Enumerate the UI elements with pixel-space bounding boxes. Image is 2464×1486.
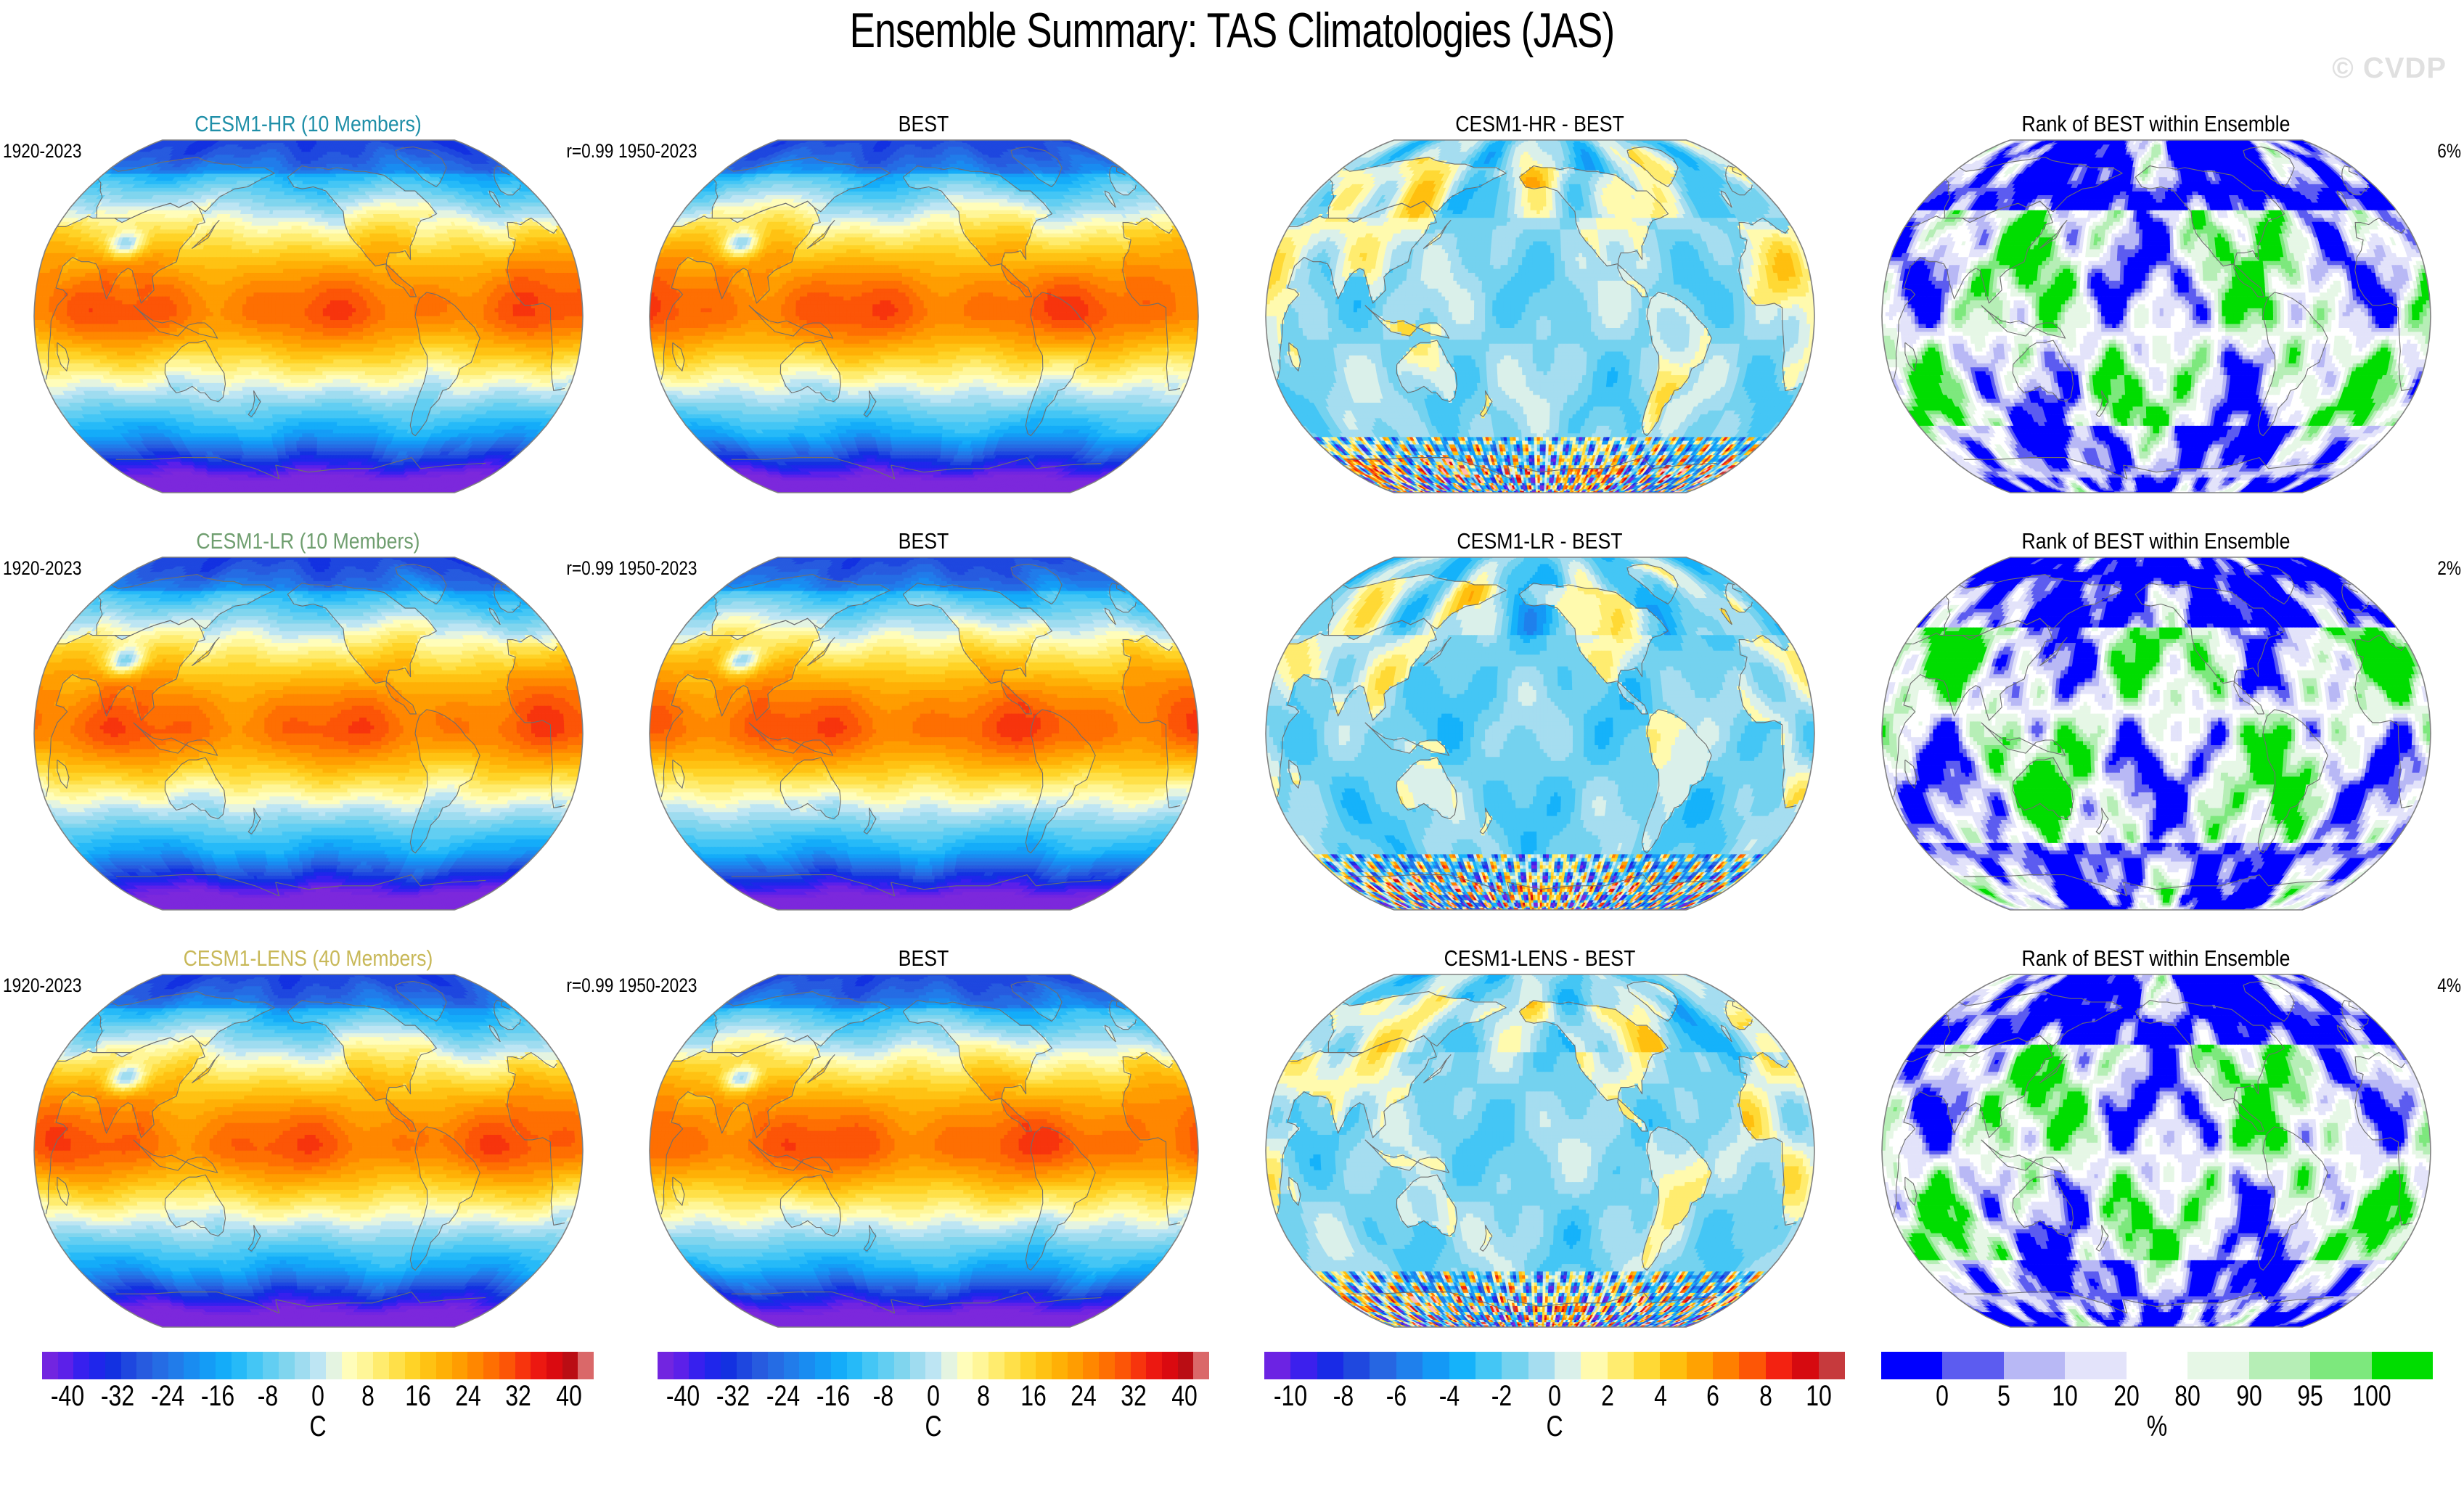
tas-colorbar-model-cell-24 [420, 1352, 436, 1379]
diff-colorbar-cell-0 [1264, 1352, 1290, 1379]
rank-map-panel-row2: Rank of BEST within Ensemble2% [1848, 530, 2464, 947]
tas-colorbar-obs-tick-2: -24 [766, 1381, 800, 1411]
tas-colorbar-model-cell-12 [232, 1352, 247, 1379]
tas-colorbar-obs-cell-3 [705, 1352, 721, 1379]
tas-colorbar-obs-cell-18 [941, 1352, 957, 1379]
tas-colorbar-obs-cell-29 [1115, 1352, 1131, 1379]
tas-colorbar-model-cell-18 [326, 1352, 342, 1379]
tas-colorbar-model-strip [42, 1352, 594, 1379]
tas-colorbar-obs-cell-12 [847, 1352, 863, 1379]
tas-colorbar-model-cell-26 [452, 1352, 468, 1379]
diff-colorbar-cell-7 [1449, 1352, 1475, 1379]
model-climatology-image [33, 139, 584, 494]
tas-colorbar-model-cell-0 [42, 1352, 58, 1379]
rank-map-image [1880, 556, 2432, 911]
observed-climatology-title: BEST [658, 530, 1188, 552]
tas-colorbar-model-cell-25 [436, 1352, 452, 1379]
rank-colorbar-cell-0 [1881, 1352, 1942, 1379]
tas-colorbar-model-cell-9 [184, 1352, 200, 1379]
rank-percentage: 4% [2437, 976, 2461, 996]
diff-colorbar-cell-2 [1317, 1352, 1343, 1379]
tas-colorbar-model-cell-27 [467, 1352, 483, 1379]
difference-map-image [1264, 556, 1816, 911]
model-climatology-panel-row1: CESM1-HR (10 Members)1920-2023r=0.99 [0, 112, 616, 530]
observed-climatology-panel-row2: BEST1950-2023 [615, 530, 1232, 947]
diff-colorbar-tick-7: 4 [1654, 1381, 1667, 1411]
diff-colorbar-tick-6: 2 [1601, 1381, 1614, 1411]
rank-colorbar-cell-3 [2065, 1352, 2126, 1379]
rank-map-panel-row1: Rank of BEST within Ensemble6% [1848, 112, 2464, 530]
diff-colorbar-cell-12 [1581, 1352, 1607, 1379]
tas-colorbar-obs-tick-0: -40 [666, 1381, 699, 1411]
tas-colorbar-obs-cell-21 [989, 1352, 1004, 1379]
diff-colorbar-unit: C [1546, 1412, 1563, 1441]
tas-colorbar-model-cell-21 [373, 1352, 389, 1379]
diff-colorbar-cell-15 [1660, 1352, 1686, 1379]
tas-colorbar-model-tick-4: -8 [258, 1381, 278, 1411]
difference-map-title: CESM1-LENS - BEST [1274, 947, 1804, 969]
observed-climatology-panel-row3: BEST1950-2023 [615, 947, 1232, 1364]
tas-colorbar-model-cell-15 [279, 1352, 295, 1379]
rank-map-title: Rank of BEST within Ensemble [1891, 530, 2420, 552]
difference-map-panel-row2: CESM1-LR - BEST [1232, 530, 1848, 947]
tas-colorbar-model-tick-5: 0 [311, 1381, 324, 1411]
tas-colorbar-model-cell-20 [357, 1352, 373, 1379]
tas-colorbar-obs-tick-6: 8 [977, 1381, 990, 1411]
diff-colorbar-tick-2: -6 [1386, 1381, 1407, 1411]
tas-colorbar-obs-cell-0 [658, 1352, 674, 1379]
rank-percentage: 6% [2437, 141, 2461, 161]
tas-colorbar-obs-cell-22 [1004, 1352, 1020, 1379]
diff-colorbar-strip [1264, 1352, 1845, 1379]
diff-colorbar-cell-20 [1792, 1352, 1818, 1379]
tas-colorbar-obs-cell-17 [925, 1352, 941, 1379]
rank-colorbar-labels: 051020809095100 [1881, 1381, 2433, 1413]
diff-colorbar-labels: -10-8-6-4-20246810 [1264, 1381, 1845, 1413]
tas-colorbar-model-cell-2 [73, 1352, 89, 1379]
difference-map-image [1264, 139, 1816, 494]
tas-colorbar-model-cell-30 [515, 1352, 531, 1379]
tas-colorbar-model-cell-16 [295, 1352, 311, 1379]
rank-colorbar: 051020809095100% [1881, 1352, 2433, 1446]
diff-colorbar-tick-9: 8 [1759, 1381, 1772, 1411]
tas-colorbar-obs-cell-10 [815, 1352, 831, 1379]
diff-colorbar-cell-9 [1502, 1352, 1528, 1379]
tas-colorbar-model-cell-22 [389, 1352, 405, 1379]
rank-colorbar-tick-6: 95 [2297, 1381, 2323, 1411]
tas-colorbar-obs-unit: C [925, 1412, 941, 1441]
tas-colorbar-model-cell-10 [200, 1352, 216, 1379]
tas-colorbar-obs-cell-30 [1131, 1352, 1147, 1379]
diff-colorbar-tick-5: 0 [1548, 1381, 1561, 1411]
rank-colorbar-tick-7: 100 [2352, 1381, 2391, 1411]
tas-colorbar-obs-cell-23 [1020, 1352, 1036, 1379]
diff-colorbar: -10-8-6-4-20246810C [1264, 1352, 1845, 1446]
diff-colorbar-tick-0: -10 [1274, 1381, 1307, 1411]
tas-colorbar-obs-cell-8 [784, 1352, 800, 1379]
tas-colorbar-model-cell-6 [136, 1352, 152, 1379]
rank-colorbar-tick-2: 10 [2052, 1381, 2078, 1411]
rank-colorbar-cell-5 [2187, 1352, 2248, 1379]
difference-map-panel-row3: CESM1-LENS - BEST [1232, 947, 1848, 1364]
rank-colorbar-tick-0: 0 [1936, 1381, 1949, 1411]
observed-climatology-image [648, 139, 1200, 494]
tas-colorbar-obs-cell-1 [674, 1352, 689, 1379]
tas-colorbar-obs-tick-3: -16 [816, 1381, 850, 1411]
diff-colorbar-cell-17 [1713, 1352, 1739, 1379]
page-title: Ensemble Summary: TAS Climatologies (JAS… [271, 6, 2193, 55]
tas-colorbar-obs-cell-25 [1052, 1352, 1068, 1379]
tas-colorbar-model-cell-23 [405, 1352, 421, 1379]
tas-colorbar-obs-tick-4: -8 [873, 1381, 893, 1411]
tas-colorbar-obs-cell-28 [1099, 1352, 1115, 1379]
cvdp-watermark: © CVDP [2332, 52, 2447, 85]
tas-colorbar-model-tick-9: 32 [506, 1381, 532, 1411]
diff-colorbar-tick-1: -8 [1333, 1381, 1354, 1411]
rank-colorbar-unit: % [2147, 1412, 2167, 1441]
diff-colorbar-cell-1 [1290, 1352, 1317, 1379]
tas-colorbar-obs-tick-8: 24 [1071, 1381, 1097, 1411]
model-climatology-image [33, 973, 584, 1329]
model-climatology-title: CESM1-LR (10 Members) [43, 530, 573, 552]
diff-colorbar-cell-19 [1766, 1352, 1792, 1379]
tas-colorbar-model-cell-5 [121, 1352, 137, 1379]
tas-colorbar-obs-cell-27 [1083, 1352, 1099, 1379]
diff-colorbar-cell-6 [1423, 1352, 1449, 1379]
tas-colorbar-model-cell-17 [310, 1352, 326, 1379]
difference-map-title: CESM1-LR - BEST [1274, 530, 1804, 552]
tas-colorbar-obs-cell-11 [831, 1352, 847, 1379]
tas-colorbar-obs-cell-13 [862, 1352, 878, 1379]
tas-colorbar-obs-cell-9 [799, 1352, 815, 1379]
tas-colorbar-obs-cell-24 [1036, 1352, 1052, 1379]
rank-map-title: Rank of BEST within Ensemble [1891, 112, 2420, 135]
tas-colorbar-model-tick-1: -32 [100, 1381, 134, 1411]
tas-colorbar-obs-cell-6 [752, 1352, 768, 1379]
tas-colorbar-model-cell-7 [152, 1352, 168, 1379]
tas-colorbar-obs-cell-34 [1193, 1352, 1209, 1379]
tas-colorbar-obs-cell-20 [973, 1352, 989, 1379]
tas-colorbar-obs-cell-4 [721, 1352, 737, 1379]
tas-colorbar-model-cell-33 [562, 1352, 578, 1379]
difference-map-title: CESM1-HR - BEST [1274, 112, 1804, 135]
tas-colorbar-model-cell-4 [105, 1352, 121, 1379]
model-climatology-image [33, 556, 584, 911]
diff-colorbar-cell-14 [1634, 1352, 1660, 1379]
tas-colorbar-model-tick-2: -24 [151, 1381, 184, 1411]
tas-colorbar-model-cell-8 [168, 1352, 184, 1379]
tas-colorbar-model-cell-19 [342, 1352, 358, 1379]
rank-map-title: Rank of BEST within Ensemble [1891, 947, 2420, 969]
tas-colorbar-obs-cell-32 [1162, 1352, 1178, 1379]
rank-colorbar-cell-2 [2004, 1352, 2065, 1379]
tas-colorbar-obs-cell-7 [768, 1352, 784, 1379]
rank-colorbar-cell-6 [2249, 1352, 2310, 1379]
rank-colorbar-strip [1881, 1352, 2433, 1379]
tas-colorbar-model-tick-3: -16 [201, 1381, 234, 1411]
tas-colorbar-model-cell-1 [58, 1352, 74, 1379]
tas-colorbar-model-cell-28 [483, 1352, 499, 1379]
diff-colorbar-cell-21 [1819, 1352, 1845, 1379]
tas-colorbar-model-cell-31 [531, 1352, 547, 1379]
tas-colorbar-model-tick-0: -40 [50, 1381, 83, 1411]
difference-map-panel-row1: CESM1-HR - BEST [1232, 112, 1848, 530]
observed-climatology-panel-row1: BEST1950-2023 [615, 112, 1232, 530]
rank-colorbar-cell-4 [2127, 1352, 2187, 1379]
observed-climatology-title: BEST [658, 947, 1188, 969]
tas-colorbar-model: -40-32-24-16-80816243240C [42, 1352, 594, 1446]
diff-colorbar-cell-4 [1370, 1352, 1396, 1379]
tas-colorbar-model-cell-29 [499, 1352, 515, 1379]
tas-colorbar-model-tick-10: 40 [556, 1381, 582, 1411]
diff-colorbar-cell-18 [1739, 1352, 1765, 1379]
model-climatology-title: CESM1-HR (10 Members) [43, 112, 573, 135]
tas-colorbar-obs-cell-33 [1178, 1352, 1194, 1379]
tas-colorbar-obs-cell-2 [689, 1352, 705, 1379]
tas-colorbar-obs-cell-19 [957, 1352, 973, 1379]
tas-colorbar-model-labels: -40-32-24-16-80816243240 [42, 1381, 594, 1413]
model-climatology-panel-row2: CESM1-LR (10 Members)1920-2023r=0.99 [0, 530, 616, 947]
tas-colorbar-obs-tick-9: 32 [1121, 1381, 1147, 1411]
diff-colorbar-cell-8 [1475, 1352, 1502, 1379]
diff-colorbar-tick-10: 10 [1806, 1381, 1832, 1411]
tas-colorbar-model-unit: C [309, 1412, 326, 1441]
rank-colorbar-tick-4: 80 [2174, 1381, 2201, 1411]
diff-colorbar-tick-3: -4 [1438, 1381, 1459, 1411]
rank-colorbar-tick-3: 20 [2113, 1381, 2140, 1411]
observed-climatology-title: BEST [658, 112, 1188, 135]
tas-colorbar-obs-tick-7: 16 [1020, 1381, 1047, 1411]
diff-colorbar-cell-5 [1396, 1352, 1423, 1379]
tas-colorbar-model-tick-6: 8 [361, 1381, 374, 1411]
tas-colorbar-obs-strip [658, 1352, 1209, 1379]
rank-map-image [1880, 973, 2432, 1329]
difference-map-image [1264, 973, 1816, 1329]
rank-percentage: 2% [2437, 559, 2461, 578]
tas-colorbar-obs-tick-5: 0 [927, 1381, 940, 1411]
diff-colorbar-cell-10 [1528, 1352, 1555, 1379]
tas-colorbar-obs: -40-32-24-16-80816243240C [658, 1352, 1209, 1446]
tas-colorbar-model-cell-34 [578, 1352, 594, 1379]
rank-map-panel-row3: Rank of BEST within Ensemble4% [1848, 947, 2464, 1364]
tas-colorbar-obs-labels: -40-32-24-16-80816243240 [658, 1381, 1209, 1413]
tas-colorbar-obs-cell-26 [1068, 1352, 1084, 1379]
tas-colorbar-model-cell-14 [263, 1352, 279, 1379]
observed-climatology-image [648, 973, 1200, 1329]
tas-colorbar-model-cell-13 [247, 1352, 263, 1379]
diff-colorbar-cell-13 [1608, 1352, 1634, 1379]
diff-colorbar-cell-3 [1343, 1352, 1370, 1379]
rank-colorbar-cell-8 [2372, 1352, 2433, 1379]
rank-colorbar-tick-5: 90 [2236, 1381, 2262, 1411]
diff-colorbar-cell-11 [1555, 1352, 1581, 1379]
rank-colorbar-cell-7 [2310, 1352, 2371, 1379]
tas-colorbar-model-tick-7: 16 [405, 1381, 431, 1411]
diff-colorbar-cell-16 [1687, 1352, 1713, 1379]
tas-colorbar-obs-cell-15 [894, 1352, 910, 1379]
diff-colorbar-tick-8: 6 [1706, 1381, 1719, 1411]
tas-colorbar-model-tick-8: 24 [455, 1381, 481, 1411]
tas-colorbar-obs-tick-10: 40 [1171, 1381, 1198, 1411]
diff-colorbar-tick-4: -2 [1491, 1381, 1512, 1411]
rank-colorbar-cell-1 [1942, 1352, 2003, 1379]
rank-map-image [1880, 139, 2432, 494]
tas-colorbar-obs-cell-14 [878, 1352, 894, 1379]
tas-colorbar-model-cell-32 [547, 1352, 562, 1379]
tas-colorbar-model-cell-11 [216, 1352, 232, 1379]
model-climatology-panel-row3: CESM1-LENS (40 Members)1920-2023r=0.99 [0, 947, 616, 1364]
observed-climatology-image [648, 556, 1200, 911]
tas-colorbar-obs-tick-1: -32 [716, 1381, 749, 1411]
tas-colorbar-obs-cell-16 [910, 1352, 926, 1379]
model-climatology-title: CESM1-LENS (40 Members) [43, 947, 573, 969]
tas-colorbar-model-cell-3 [89, 1352, 105, 1379]
tas-colorbar-obs-cell-31 [1146, 1352, 1162, 1379]
tas-colorbar-obs-cell-5 [737, 1352, 753, 1379]
rank-colorbar-tick-1: 5 [1997, 1381, 2010, 1411]
